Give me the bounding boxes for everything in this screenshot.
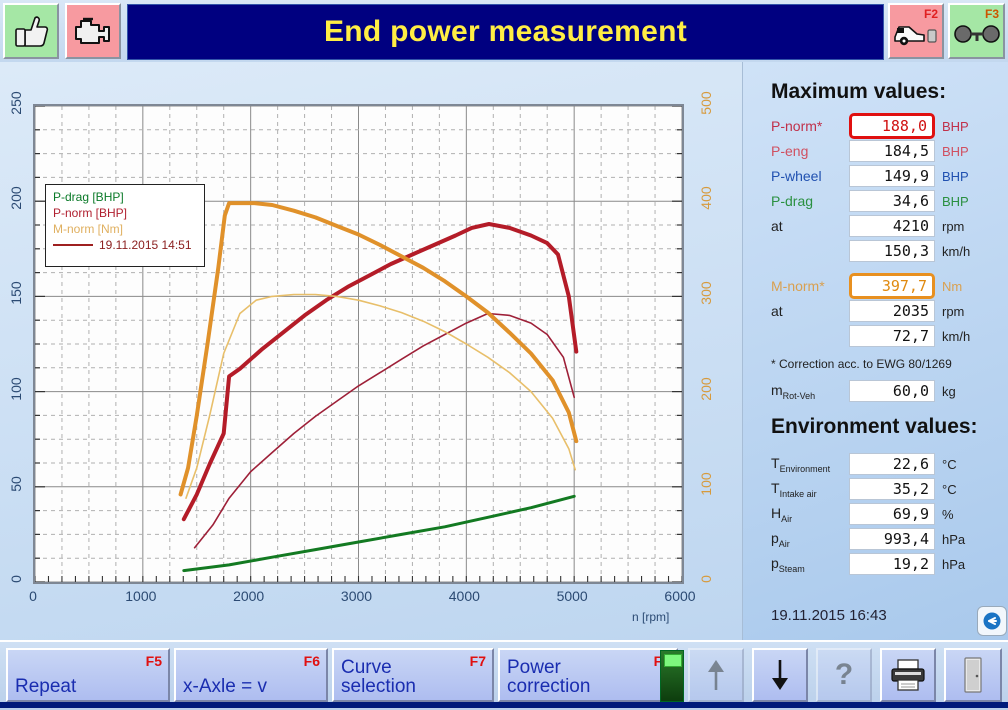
env-row-3: pAir993,4hPa [771,527,986,551]
max-value-unit-3: BHP [935,194,986,209]
legend-item-m-norm: M-norm [Nm] [53,221,197,237]
status-led-green [660,650,684,702]
max-value-label-3: P-drag [771,193,849,209]
scroll-up-button[interactable] [688,648,744,702]
y-tick-right-500: 500 [698,83,714,123]
engine-icon [73,15,113,47]
arrow-up-icon [705,658,727,692]
torque-value-row-1: at2035rpm [771,299,986,323]
legend-item-p-norm: P-norm [BHP] [53,205,197,221]
y-tick-left-50: 50 [8,464,24,504]
env-label-2: HAir [771,505,849,524]
max-value-label-2: P-wheel [771,168,849,184]
max-value-row-3: P-drag34,6BHP [771,189,986,213]
env-label-0: TEnvironment [771,455,849,474]
max-value-unit-2: BHP [935,169,986,184]
max-value-row-2: P-wheel149,9BHP [771,164,986,188]
max-value-unit-0: BHP [935,119,986,134]
back-arrow-icon[interactable] [977,606,1007,636]
footer-accent-line [0,702,1008,708]
fkey-button-f7[interactable]: F7Curve selection [332,648,494,702]
x-axis-label: n [rpm] [632,610,669,624]
values-pane: Maximum values: P-norm*188,0BHPP-eng184,… [742,62,1008,640]
exit-door-icon [960,656,986,694]
max-value-value-2: 149,9 [849,165,935,187]
max-value-row-5: 150,3km/h [771,239,986,263]
fkey-label-f6: F6 [304,653,320,669]
print-button[interactable] [880,648,936,702]
chart-legend: P-drag [BHP] P-norm [BHP] M-norm [Nm] 19… [45,184,205,267]
correction-note: * Correction acc. to EWG 80/1269 [771,357,952,371]
env-unit-3: hPa [935,532,986,547]
max-value-unit-5: km/h [935,244,986,259]
max-value-row-4: at4210rpm [771,214,986,238]
max-value-label-0: P-norm* [771,118,849,134]
env-label-1: TIntake air [771,480,849,499]
series-0 [184,224,577,519]
env-value-1: 35,2 [849,478,935,500]
chart-pane: P-drag [BHP] P-norm [BHP] M-norm [Nm] 19… [0,62,742,640]
f3-roller-button[interactable]: F3 [948,3,1005,59]
y-tick-left-100: 100 [8,369,24,409]
rotating-mass-value: 60,0 [849,380,935,402]
max-value-label-4: at [771,218,849,234]
torque-value-value-1: 2035 [849,300,935,322]
x-tick-5000: 5000 [542,588,602,604]
env-label-3: pAir [771,530,849,549]
fkey-text-f8: Power correction [507,658,590,696]
x-tick-0: 0 [3,588,63,604]
title-bar: End power measurement F2 F3 [0,0,1008,62]
x-tick-2000: 2000 [219,588,279,604]
torque-value-unit-2: km/h [935,329,986,344]
roller-axle-icon [953,22,1001,46]
f2-vehicle-button[interactable]: F2 [888,3,944,59]
printer-icon [888,658,928,692]
series-2 [181,203,577,494]
measurement-timestamp: 19.11.2015 16:43 [771,607,887,624]
window-title-text: End power measurement [324,15,687,49]
y-tick-left-250: 250 [8,83,24,123]
max-value-unit-4: rpm [935,219,986,234]
y-tick-right-300: 300 [698,273,714,313]
exit-button[interactable] [944,648,1002,702]
fkey-label-f7: F7 [470,653,486,669]
vehicle-icon [893,21,939,47]
power-curve-plot[interactable] [33,104,684,584]
legend-item-p-drag: P-drag [BHP] [53,189,197,205]
series-1 [195,314,575,548]
max-value-value-1: 184,5 [849,140,935,162]
env-value-4: 19,2 [849,553,935,575]
torque-value-row-0: M-norm*397,7Nm [771,274,986,298]
max-value-value-5: 150,3 [849,240,935,262]
engine-status-button[interactable] [65,3,121,59]
function-key-bar: F5RepeatF6x-Axle = vF7Curve selectionF8P… [0,640,1008,710]
env-row-1: TIntake air35,2°C [771,477,986,501]
fkey-text-f5: Repeat [15,677,76,696]
fkey-text-f6: x-Axle = v [183,677,267,696]
torque-value-value-0: 397,7 [849,273,935,299]
torque-value-unit-1: rpm [935,304,986,319]
fkey-label-f5: F5 [146,653,162,669]
help-button[interactable]: ? [816,648,872,702]
series-4 [184,496,574,570]
window-title: End power measurement [127,4,884,60]
f3-key-label: F3 [985,7,999,21]
fkey-button-f8[interactable]: F8Power correction [498,648,678,702]
legend-item-run: 19.11.2015 14:51 [53,237,197,253]
arrow-down-icon [769,658,791,692]
torque-value-unit-0: Nm [935,279,986,294]
rotating-mass-unit: kg [935,384,986,399]
max-value-value-3: 34,6 [849,190,935,212]
env-unit-2: % [935,507,986,522]
env-unit-1: °C [935,482,986,497]
scroll-down-button[interactable] [752,648,808,702]
fkey-button-f5[interactable]: F5Repeat [6,648,170,702]
max-value-row-0: P-norm*188,0BHP [771,114,986,138]
main-content: P-drag [BHP] P-norm [BHP] M-norm [Nm] 19… [0,62,1008,640]
x-tick-6000: 6000 [650,588,710,604]
torque-value-label-1: at [771,303,849,319]
y-tick-right-400: 400 [698,178,714,218]
env-value-3: 993,4 [849,528,935,550]
max-value-row-1: P-eng184,5BHP [771,139,986,163]
y-tick-right-200: 200 [698,369,714,409]
fkey-button-f6[interactable]: F6x-Axle = v [174,648,328,702]
y-tick-left-150: 150 [8,273,24,313]
y-tick-left-200: 200 [8,178,24,218]
torque-value-value-2: 72,7 [849,325,935,347]
rotating-mass-label-sub: Rot-Veh [783,390,816,400]
env-row-0: TEnvironment22,6°C [771,452,986,476]
led-lit-segment [664,654,682,667]
torque-value-row-2: 72,7km/h [771,324,986,348]
x-tick-1000: 1000 [111,588,171,604]
legend-line-swatch [53,244,93,246]
rotating-mass-label-base: m [771,382,783,398]
x-tick-4000: 4000 [434,588,494,604]
f2-key-label: F2 [924,7,938,21]
environment-values-heading: Environment values: [771,415,978,439]
x-tick-3000: 3000 [327,588,387,604]
plot-canvas [35,106,682,582]
maximum-values-heading: Maximum values: [771,80,946,104]
help-icon: ? [835,658,853,692]
rotating-mass-label: mRot-Veh [771,382,849,401]
env-label-4: pSteam [771,555,849,574]
rotating-mass-row: mRot-Veh 60,0 kg [771,379,986,403]
max-value-value-0: 188,0 [849,113,935,139]
max-value-value-4: 4210 [849,215,935,237]
env-value-0: 22,6 [849,453,935,475]
env-unit-4: hPa [935,557,986,572]
back-arrow-glyph [982,611,1002,631]
fkey-text-f7: Curve selection [341,658,416,696]
max-value-unit-1: BHP [935,144,986,159]
y-tick-right-100: 100 [698,464,714,504]
torque-value-label-0: M-norm* [771,278,849,294]
confirm-ok-button[interactable] [3,3,59,59]
series-3 [186,295,575,499]
thumbs-up-icon [13,13,49,49]
env-value-2: 69,9 [849,503,935,525]
max-value-label-1: P-eng [771,143,849,159]
legend-run-timestamp: 19.11.2015 14:51 [99,237,192,253]
env-row-2: HAir69,9% [771,502,986,526]
env-unit-0: °C [935,457,986,472]
env-row-4: pSteam19,2hPa [771,552,986,576]
